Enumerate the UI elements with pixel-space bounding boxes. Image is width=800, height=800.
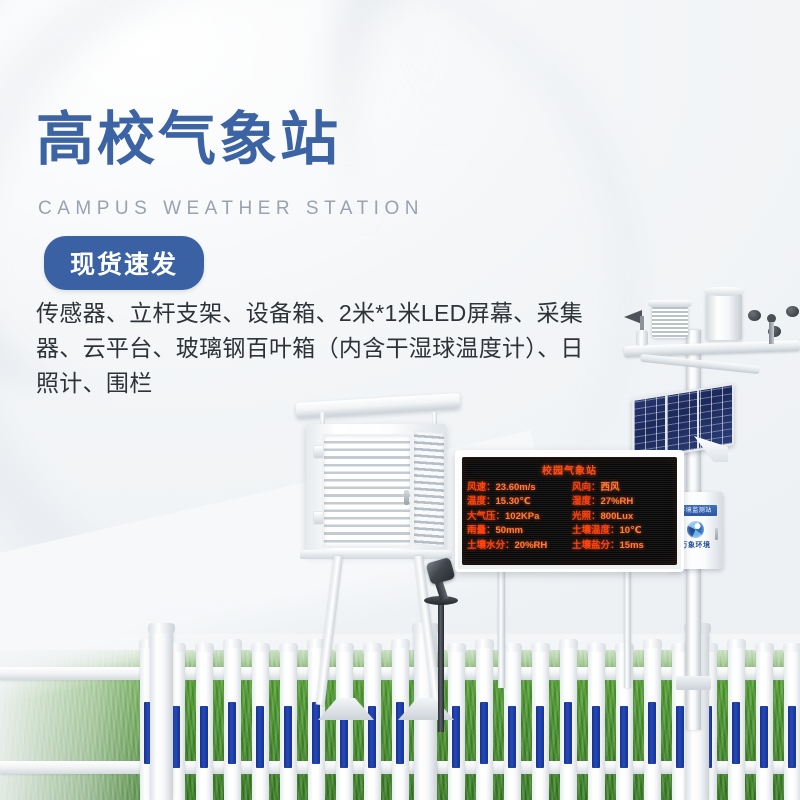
fence-picket	[476, 646, 493, 800]
mast-base-plate	[676, 676, 711, 690]
led-reading-row: 湿度：27%RH	[572, 495, 672, 508]
led-reading-row: 温度：15.30℃	[467, 495, 567, 508]
fence-picket-stripe	[564, 702, 572, 764]
fence-picket	[504, 650, 521, 800]
fence-picket	[532, 650, 549, 800]
wind-vane-body	[636, 330, 648, 346]
led-support-post-left	[498, 558, 505, 688]
fence-picket-stripe	[284, 706, 292, 768]
anemometer-stem	[769, 322, 774, 344]
page-subtitle: CAMPUS WEATHER STATION	[38, 198, 424, 220]
anemometer-cup	[748, 310, 761, 321]
fence-picket	[196, 650, 213, 800]
radiation-shield-icon	[652, 305, 688, 338]
led-screen: 校园气象站 风速：23.60m/s风向：西风温度：15.30℃湿度：27%RH大…	[462, 457, 677, 565]
led-reading-value: 10℃	[620, 525, 642, 536]
cabinet-latch	[715, 528, 718, 540]
brand-globe-icon	[687, 521, 704, 538]
led-display-board: 校园气象站 风速：23.60m/s风向：西风温度：15.30℃湿度：27%RH大…	[455, 450, 684, 572]
screen-base-plate	[300, 550, 452, 559]
led-reading-row: 土壤盐分：15ms	[572, 539, 672, 552]
led-readings-grid: 风速：23.60m/s风向：西风温度：15.30℃湿度：27%RH大气压：102…	[462, 481, 677, 552]
fence-picket-stripe	[592, 706, 600, 768]
led-reading-row: 光照：800Lux	[572, 510, 672, 523]
door-latch	[404, 490, 409, 505]
fence-picket-stripe	[536, 706, 544, 768]
led-reading-value: 20%RH	[515, 540, 548, 551]
anemometer-cup	[786, 306, 799, 317]
rain-gauge-icon	[706, 292, 742, 340]
led-reading-label: 土壤盐分：	[572, 540, 620, 551]
fence-picket-stripe	[508, 706, 516, 768]
fence-picket-stripe	[760, 706, 768, 768]
fence-picket	[392, 646, 409, 800]
stevenson-screen-box	[306, 424, 446, 554]
fence-picket-stripe	[676, 706, 684, 768]
fence-picket	[336, 650, 353, 800]
led-reading-row: 土壤温度：10℃	[572, 524, 672, 537]
wind-vane-icon	[624, 308, 654, 340]
fence-picket	[252, 650, 269, 800]
led-reading-value: 50mm	[496, 525, 523, 536]
product-description: 传感器、立杆支架、设备箱、2米*1米LED屏幕、采集器、云平台、玻璃钢百叶箱（内…	[36, 296, 596, 401]
fence-picket	[756, 650, 773, 800]
fence-picket	[728, 646, 745, 800]
led-reading-label: 风向：	[572, 482, 601, 493]
led-reading-label: 湿度：	[572, 496, 601, 507]
fence-picket-stripe	[788, 706, 796, 768]
solar-panel-divider	[665, 396, 667, 454]
page-title: 高校气象站	[36, 110, 341, 171]
fence-picket-stripe	[200, 706, 208, 768]
door-hinge-top	[314, 446, 323, 458]
led-screen-title: 校园气象站	[462, 462, 677, 477]
louver-door-front	[322, 434, 412, 548]
cabinet-band-label: 环境监测站	[679, 508, 712, 514]
fence-picket-stripe	[732, 702, 740, 764]
fence-picket-stripe	[452, 706, 460, 768]
led-reading-label: 土壤温度：	[572, 525, 620, 536]
fence-picket	[588, 650, 605, 800]
fence-picket	[224, 646, 241, 800]
fence-picket	[644, 646, 661, 800]
led-reading-label: 光照：	[572, 511, 601, 522]
led-reading-value: 西风	[601, 482, 620, 493]
led-support-post-right	[624, 558, 631, 688]
fence-picket-stripe	[172, 706, 180, 768]
product-banner: 环境监测站 万象环境 校园气象站 风速：23.60m/s风向：西风温度：15.3…	[0, 0, 800, 800]
led-reading-row: 土壤水分：20%RH	[467, 539, 567, 552]
led-reading-value: 15.30℃	[496, 496, 531, 507]
louver-panel-side	[414, 430, 444, 547]
fence-picket-stripe	[648, 702, 656, 764]
fence-picket-stripe	[312, 702, 320, 764]
led-reading-row: 雨量：50mm	[467, 524, 567, 537]
anemometer-icon	[748, 302, 800, 342]
led-reading-row: 风速：23.60m/s	[467, 481, 567, 494]
led-reading-label: 大气压：	[467, 511, 505, 522]
led-reading-value: 23.60m/s	[496, 482, 536, 493]
fence-post	[150, 632, 173, 800]
fence-picket-stripe	[620, 706, 628, 768]
fence-picket-stripe	[228, 702, 236, 764]
fence-picket	[560, 646, 577, 800]
led-reading-value: 15ms	[620, 540, 644, 551]
led-reading-value: 102KPa	[505, 511, 539, 522]
led-reading-value: 800Lux	[601, 511, 634, 522]
fence-picket	[280, 650, 297, 800]
door-hinge-bottom	[314, 512, 323, 524]
led-reading-value: 27%RH	[601, 496, 634, 507]
led-reading-label: 土壤水分：	[467, 540, 515, 551]
led-reading-label: 温度：	[467, 496, 496, 507]
fence-picket-stripe	[480, 702, 488, 764]
led-reading-row: 大气压：102KPa	[467, 510, 567, 523]
stock-badge: 现货速发	[44, 236, 204, 290]
perimeter-fence	[0, 632, 800, 800]
fence-picket	[448, 650, 465, 800]
fence-picket	[364, 650, 381, 800]
led-reading-label: 风速：	[467, 482, 496, 493]
led-reading-row: 风向：西风	[572, 481, 672, 494]
fence-picket-stripe	[396, 702, 404, 764]
fence-picket	[784, 650, 800, 800]
led-reading-label: 雨量：	[467, 525, 496, 536]
fence-picket-stripe	[256, 706, 264, 768]
sunshine-recorder-pole	[438, 600, 444, 732]
